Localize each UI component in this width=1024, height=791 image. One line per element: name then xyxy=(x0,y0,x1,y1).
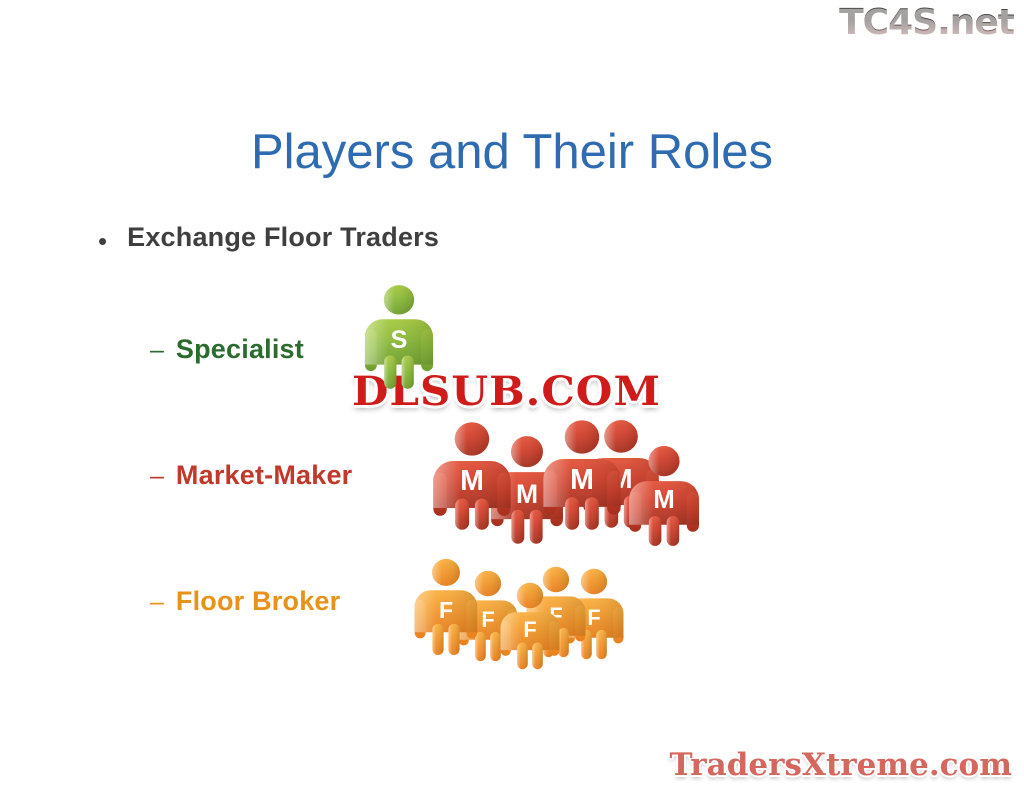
slide-canvas: TC4S.net Players and Their Roles • Excha… xyxy=(0,0,1024,791)
sub-bullet-label-specialist: Specialist xyxy=(176,334,304,365)
sub-bullet-label-market-maker: Market-Maker xyxy=(176,460,352,491)
figure-group-floor-broker: F F xyxy=(412,557,602,662)
bullet-exchange-floor-traders: • Exchange Floor Traders xyxy=(98,222,439,254)
dash-marker-icon: – xyxy=(150,336,164,365)
sub-bullet-label-floor-broker: Floor Broker xyxy=(176,586,340,617)
tradersxtreme-watermark: TradersXtreme.com xyxy=(669,747,1012,783)
sub-bullet-specialist: – Specialist xyxy=(150,334,304,365)
person-pictogram-floor-broker: F xyxy=(498,581,562,671)
person-pictogram-specialist: S xyxy=(362,283,436,391)
dash-marker-icon: – xyxy=(150,462,164,491)
sub-bullet-floor-broker: – Floor Broker xyxy=(150,586,340,617)
tc4s-site-logo: TC4S.net xyxy=(839,2,1014,43)
bullet-label: Exchange Floor Traders xyxy=(127,222,439,253)
person-pictogram-floor-broker: F xyxy=(412,557,480,657)
person-pictogram-market-maker: M xyxy=(430,420,514,532)
figure-group-market-maker: M M xyxy=(430,416,680,546)
dash-marker-icon: – xyxy=(150,588,164,617)
bullet-marker-icon: • xyxy=(98,228,107,254)
page-title: Players and Their Roles xyxy=(0,124,1024,180)
sub-bullet-market-maker: – Market-Maker xyxy=(150,460,352,491)
person-pictogram-market-maker: M xyxy=(540,418,624,532)
person-pictogram-market-maker: M xyxy=(626,444,702,548)
